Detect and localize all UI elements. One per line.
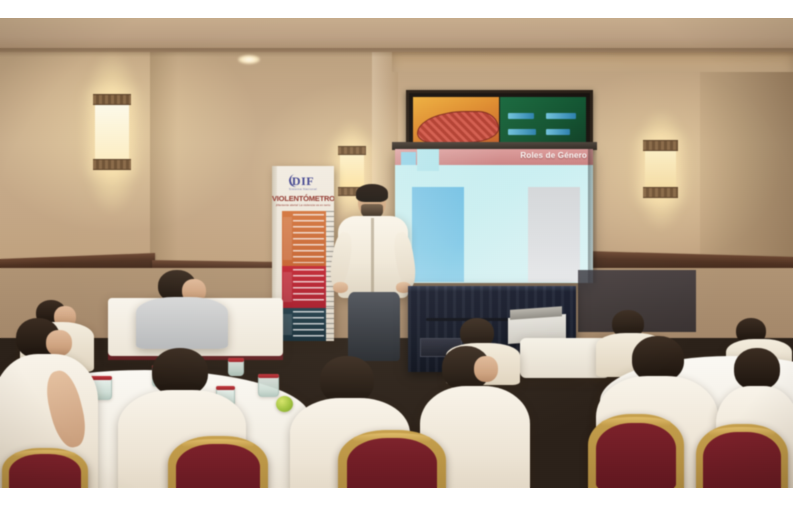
slide-accent-square [401,152,416,165]
ceiling-downlight [238,55,260,64]
slide-panel-left [412,187,464,282]
attendee-hair [320,356,374,404]
banquet-chair-left [168,436,268,488]
banquet-chair-far-right [696,424,788,488]
sconce-panel [95,96,129,168]
artwork-left-panel [413,97,499,145]
attendee-hair [734,348,780,390]
artwork-right-panel [500,97,586,145]
drinking-glass [258,374,279,397]
dif-logo-subtitle: Sistema Nacional [272,187,334,191]
sconce-cap-bottom [643,187,678,198]
screen-surface: Roles de Género [395,149,593,283]
sconce-cap-top [338,146,366,155]
banner-band-dark [282,308,326,341]
sconce-cap-top [93,94,131,105]
wall-sconce-right [645,142,676,196]
wall-sconce-left [95,96,129,168]
banquet-chair-center [338,430,446,488]
banner-band-orange [282,211,326,266]
attendee-torso [136,297,228,349]
sconce-cap-top [643,140,678,151]
sconce-uplight-glow [638,110,684,144]
attendee-face [46,330,72,356]
conference-room-photograph: Roles de Género DIF Sistema Nacional VIO… [0,18,793,488]
banquet-chair-far-left [2,448,88,488]
presenter-shirt-placket [371,218,374,294]
attendee-face [474,356,498,382]
banquet-chair-right [588,414,684,488]
presenter-hair [356,184,388,202]
sconce-downlight-glow [638,194,684,230]
banner-subtitle: ¡Mantente alerta! La violencia va en ser… [272,203,334,207]
sconce-uplight-glow [86,52,138,98]
sconce-downlight-glow [86,166,138,214]
slide-title: Roles de Género [520,151,587,160]
sconce-cap-bottom [93,159,131,170]
slide-panel-right [528,187,580,282]
banner-title: VIOLENTÓMETRO [272,194,334,203]
attendee-back-center [136,270,228,346]
room-ceiling [0,18,793,52]
presenter [330,186,416,361]
fish-motif-icon [417,111,499,143]
attendee-hair [152,348,208,396]
screen-edge-shadow [588,149,597,283]
wall-corner-left [150,52,178,282]
slide-header-notch [417,149,439,171]
presenter-hand-left [333,282,348,293]
presenter-trousers [348,292,400,361]
projection-screen: Roles de Género [392,142,597,290]
banner-band-red [282,266,326,308]
photo-frame: Roles de Género DIF Sistema Nacional VIO… [0,0,793,528]
